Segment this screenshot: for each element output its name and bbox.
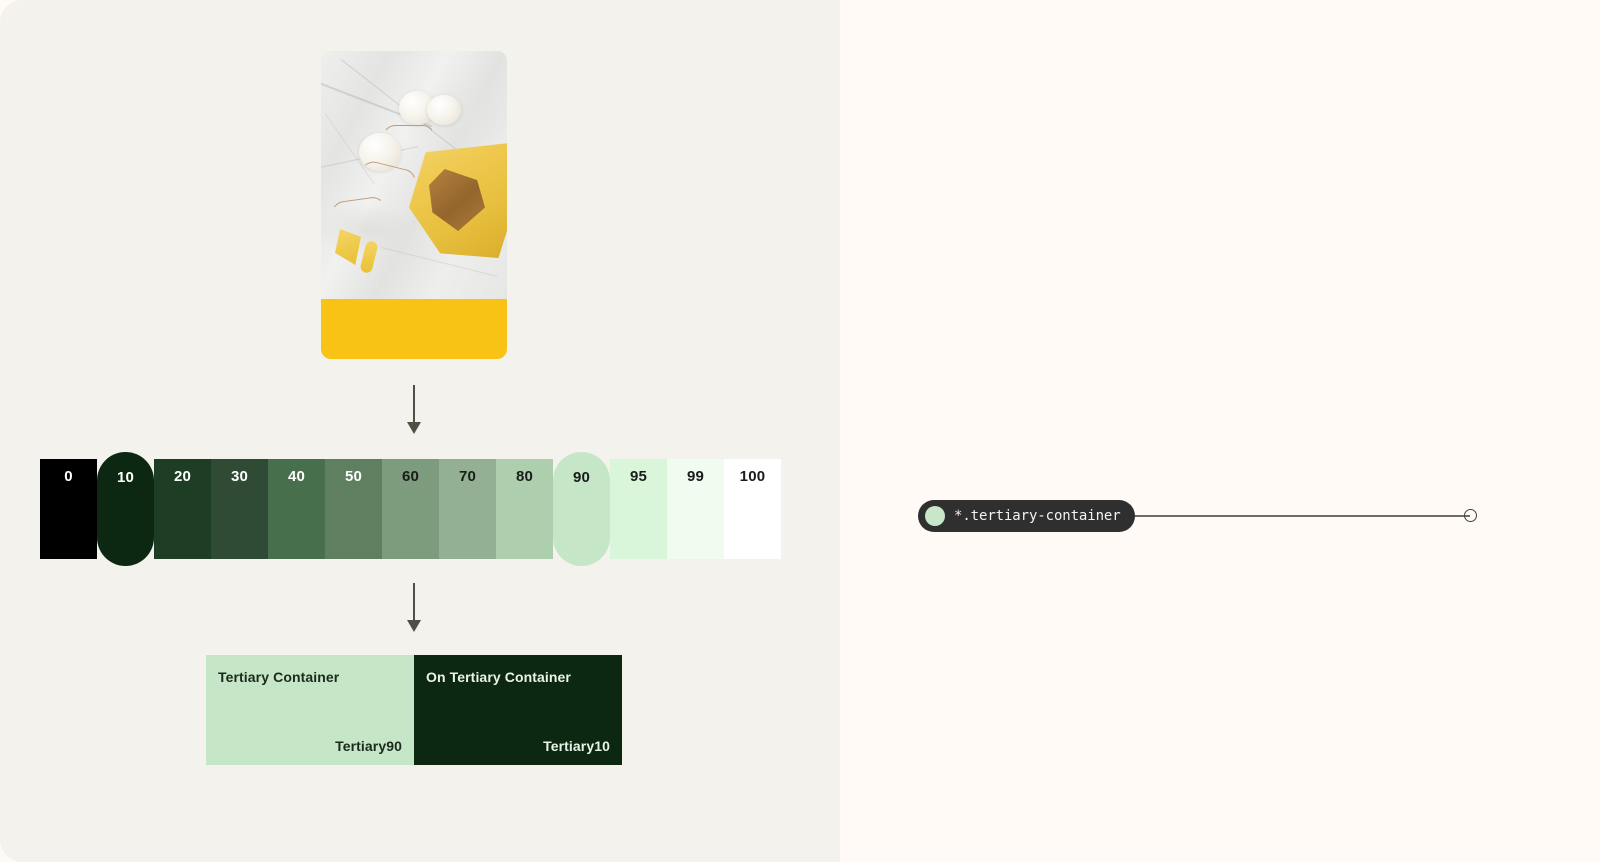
palette-swatch-label: 0 — [64, 468, 73, 485]
flower-stem — [329, 195, 389, 233]
palette-swatch-30[interactable]: 30 — [211, 459, 268, 559]
palette-swatch-90[interactable]: 90 — [553, 452, 610, 566]
palette-swatch-60[interactable]: 60 — [382, 459, 439, 559]
token-color-dot — [925, 506, 945, 526]
flower-stem — [381, 125, 437, 161]
palette-swatch-label: 90 — [573, 469, 590, 486]
palette-swatch-label: 70 — [459, 468, 476, 485]
tonal-palette-strip: 01020304050607080909599100 — [40, 459, 789, 559]
token-name-label: *.tertiary-container — [954, 508, 1121, 524]
palette-swatch-70[interactable]: 70 — [439, 459, 496, 559]
palette-swatch-80[interactable]: 80 — [496, 459, 553, 559]
yellow-petal — [359, 240, 378, 274]
role-title: Tertiary Container — [218, 669, 400, 685]
palette-swatch-label: 40 — [288, 468, 305, 485]
token-annotation-chip[interactable]: *.tertiary-container — [918, 500, 1135, 532]
source-photo — [321, 51, 507, 299]
source-image-card[interactable] — [321, 51, 507, 359]
role-token: Tertiary90 — [335, 738, 402, 754]
palette-swatch-label: 30 — [231, 468, 248, 485]
palette-swatch-99[interactable]: 99 — [667, 459, 724, 559]
palette-swatch-40[interactable]: 40 — [268, 459, 325, 559]
palette-swatch-95[interactable]: 95 — [610, 459, 667, 559]
app-preview-panel: 9:30 Plant Care — [840, 0, 1600, 862]
role-title: On Tertiary Container — [426, 669, 608, 685]
extracted-color-swatch — [321, 299, 507, 359]
palette-swatch-label: 50 — [345, 468, 362, 485]
down-arrow-icon — [403, 385, 425, 435]
palette-swatch-label: 99 — [687, 468, 704, 485]
color-role-row: Tertiary Container Tertiary90 On Tertiar… — [206, 655, 622, 765]
dried-flower — [427, 95, 461, 125]
palette-swatch-label: 100 — [740, 468, 766, 485]
palette-swatch-label: 10 — [117, 469, 134, 486]
palette-swatch-100[interactable]: 100 — [724, 459, 781, 559]
palette-swatch-10[interactable]: 10 — [97, 452, 154, 566]
design-token-inspector-screen: 01020304050607080909599100 Tertiary Cont… — [0, 0, 1600, 862]
annotation-leader-line — [1105, 515, 1470, 517]
palette-derivation-panel: 01020304050607080909599100 Tertiary Cont… — [0, 0, 840, 862]
on-tertiary-container-swatch[interactable]: On Tertiary Container Tertiary10 — [414, 655, 622, 765]
palette-swatch-0[interactable]: 0 — [40, 459, 97, 559]
palette-swatch-label: 20 — [174, 468, 191, 485]
palette-swatch-label: 95 — [630, 468, 647, 485]
role-token: Tertiary10 — [543, 738, 610, 754]
yellow-petal — [335, 229, 361, 265]
down-arrow-icon — [403, 583, 425, 633]
palette-swatch-20[interactable]: 20 — [154, 459, 211, 559]
palette-swatch-label: 60 — [402, 468, 419, 485]
tertiary-container-swatch[interactable]: Tertiary Container Tertiary90 — [206, 655, 414, 765]
palette-swatch-50[interactable]: 50 — [325, 459, 382, 559]
annotation-target-ring — [1464, 509, 1477, 522]
palette-swatch-label: 80 — [516, 468, 533, 485]
